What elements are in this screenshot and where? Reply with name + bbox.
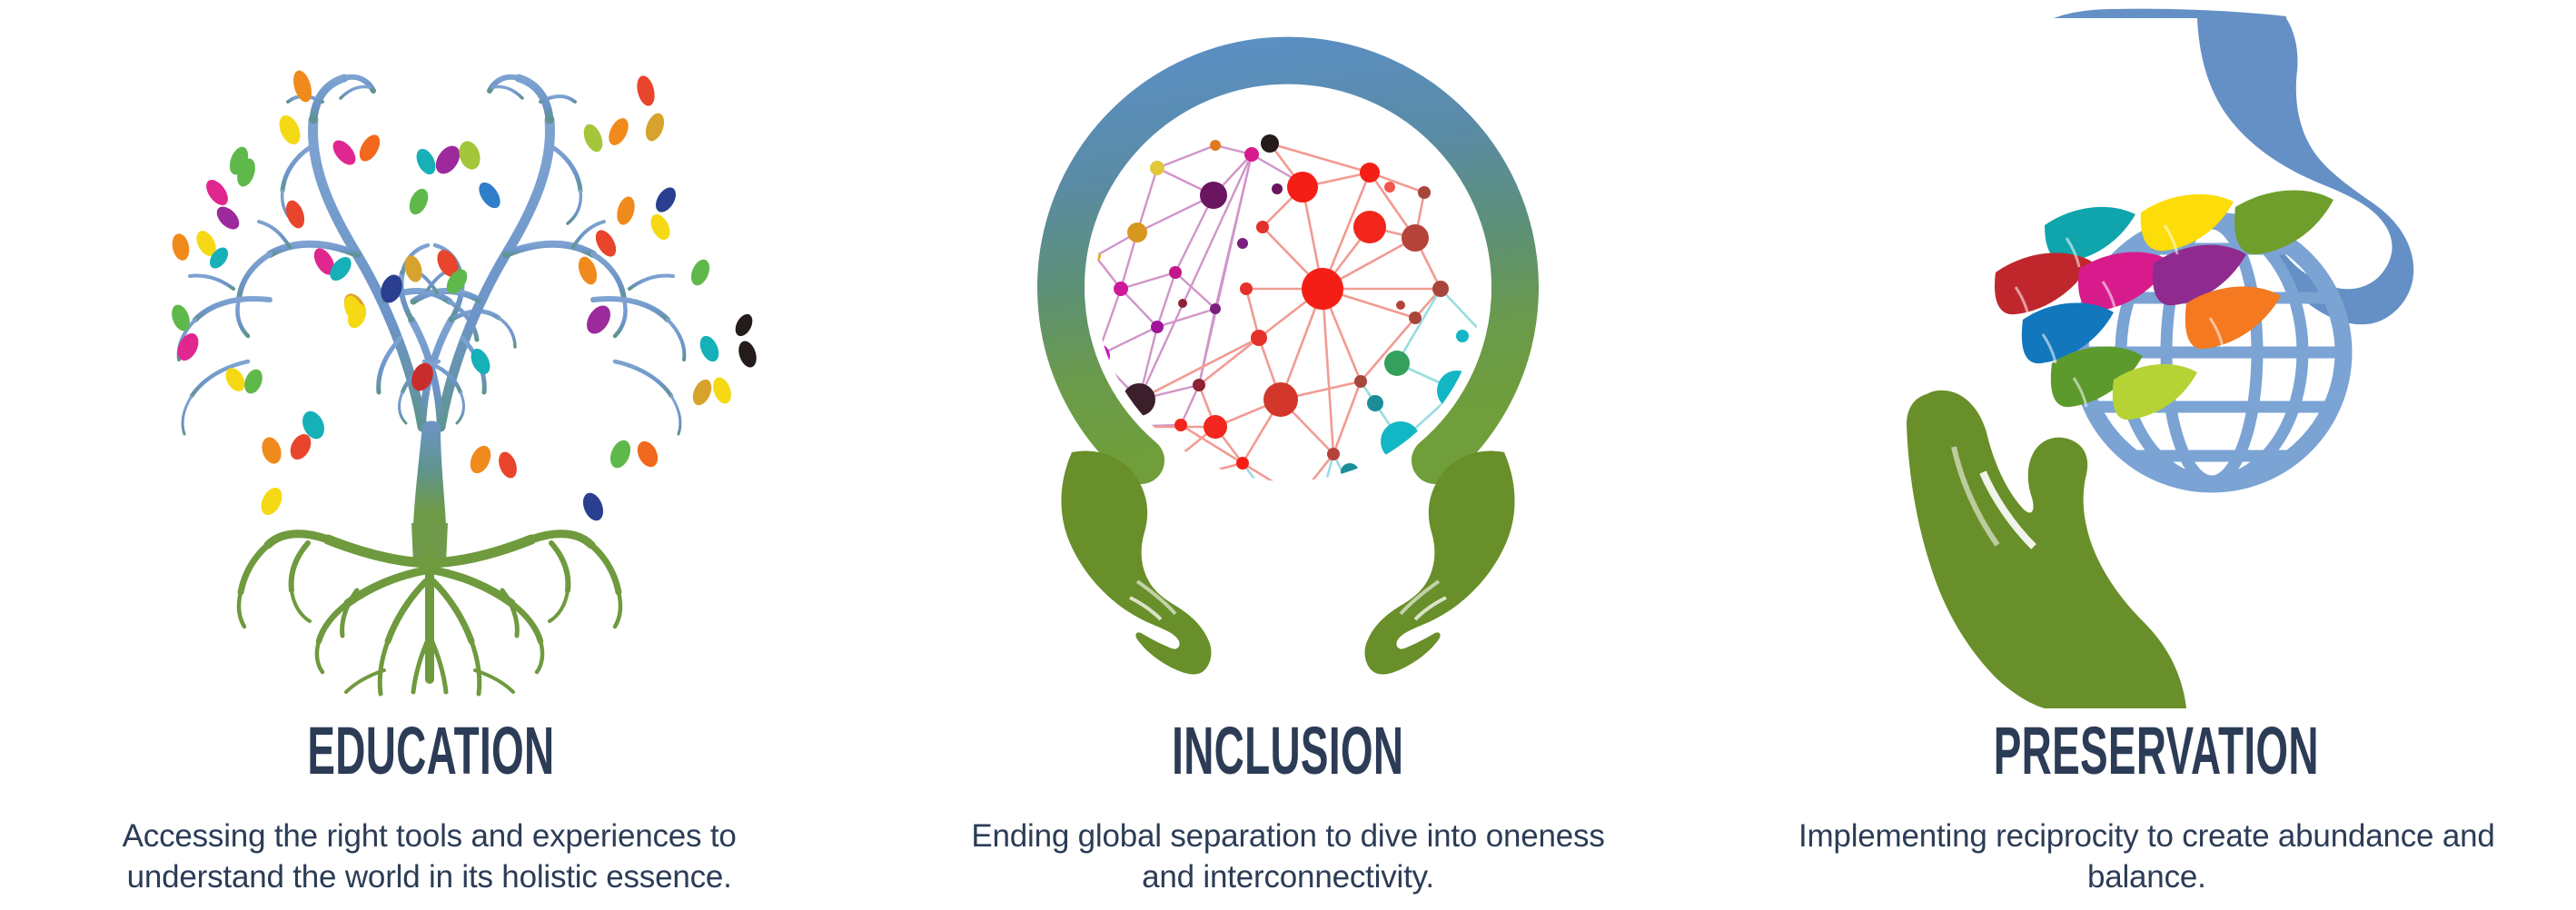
- value-card-preservation: PRESERVATION Implementing reciprocity to…: [1718, 0, 2576, 910]
- value-card-inclusion: INCLUSION Ending global separation to di…: [858, 0, 1717, 910]
- value-card-education: EDUCATION Accessing the right tools and …: [0, 0, 858, 910]
- values-three-column-graphic: EDUCATION Accessing the right tools and …: [0, 0, 2576, 910]
- heart-tree-with-roots-icon: [0, 0, 858, 717]
- network-globe-in-hands-icon: [858, 0, 1717, 717]
- description-preservation: Implementing reciprocity to create abund…: [1788, 816, 2505, 897]
- page-title-education: EDUCATION: [308, 717, 555, 785]
- description-inclusion: Ending global separation to dive into on…: [970, 816, 1606, 897]
- page-title-inclusion: INCLUSION: [1172, 717, 1403, 785]
- globe-with-leaves-between-hands-icon: [1718, 0, 2576, 717]
- page-title-preservation: PRESERVATION: [1993, 717, 2318, 785]
- description-education: Accessing the right tools and experience…: [103, 816, 757, 897]
